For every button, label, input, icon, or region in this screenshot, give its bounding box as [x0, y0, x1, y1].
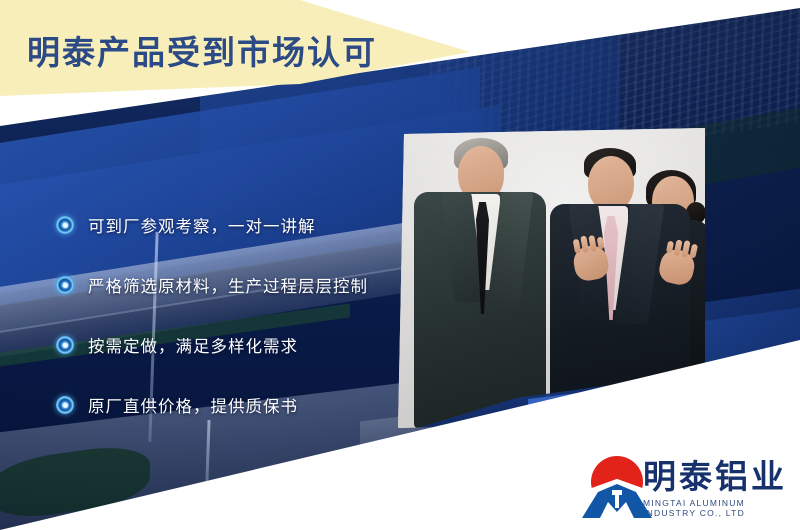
- target-bullseye-icon: [56, 216, 74, 234]
- promo-banner: 明泰产品受到市场认可 可到厂参观考察，一对一讲解 严格筛选原材料，生产过程层层控…: [0, 0, 800, 530]
- target-bullseye-icon: [56, 336, 74, 354]
- person-center-head: [588, 156, 634, 211]
- logo-blue-mountain-shape: [582, 482, 652, 518]
- page-title: 明泰产品受到市场认可: [27, 26, 377, 74]
- feature-list-item: 可到厂参观考察，一对一讲解: [56, 212, 396, 238]
- logo-company-name-en: MINGTAI ALUMINUM INDUSTRY CO., LTD: [643, 498, 800, 518]
- feature-list-item: 严格筛选原材料，生产过程层层控制: [56, 272, 396, 298]
- red-sun-blue-mountain-logo-icon: [582, 456, 635, 518]
- feature-list: 可到厂参观考察，一对一讲解 严格筛选原材料，生产过程层层控制 按需定做，满足多样…: [56, 212, 396, 418]
- logo-company-name-cn: 明泰铝业: [643, 460, 800, 495]
- feature-list-item-label: 原厂直供价格，提供质保书: [88, 393, 298, 417]
- feature-list-item-label: 按需定做，满足多样化需求: [88, 333, 298, 357]
- feature-list-item: 按需定做，满足多样化需求: [56, 332, 396, 358]
- logo-text-block: 明泰铝业 MINGTAI ALUMINUM INDUSTRY CO., LTD: [643, 460, 800, 518]
- feature-list-item: 原厂直供价格，提供质保书: [56, 392, 396, 418]
- target-bullseye-icon: [56, 276, 74, 294]
- company-logo: 明泰铝业 MINGTAI ALUMINUM INDUSTRY CO., LTD: [582, 456, 800, 518]
- target-bullseye-icon: [56, 396, 74, 414]
- feature-list-item-label: 严格筛选原材料，生产过程层层控制: [88, 273, 368, 297]
- feature-list-item-label: 可到厂参观考察，一对一讲解: [88, 213, 316, 237]
